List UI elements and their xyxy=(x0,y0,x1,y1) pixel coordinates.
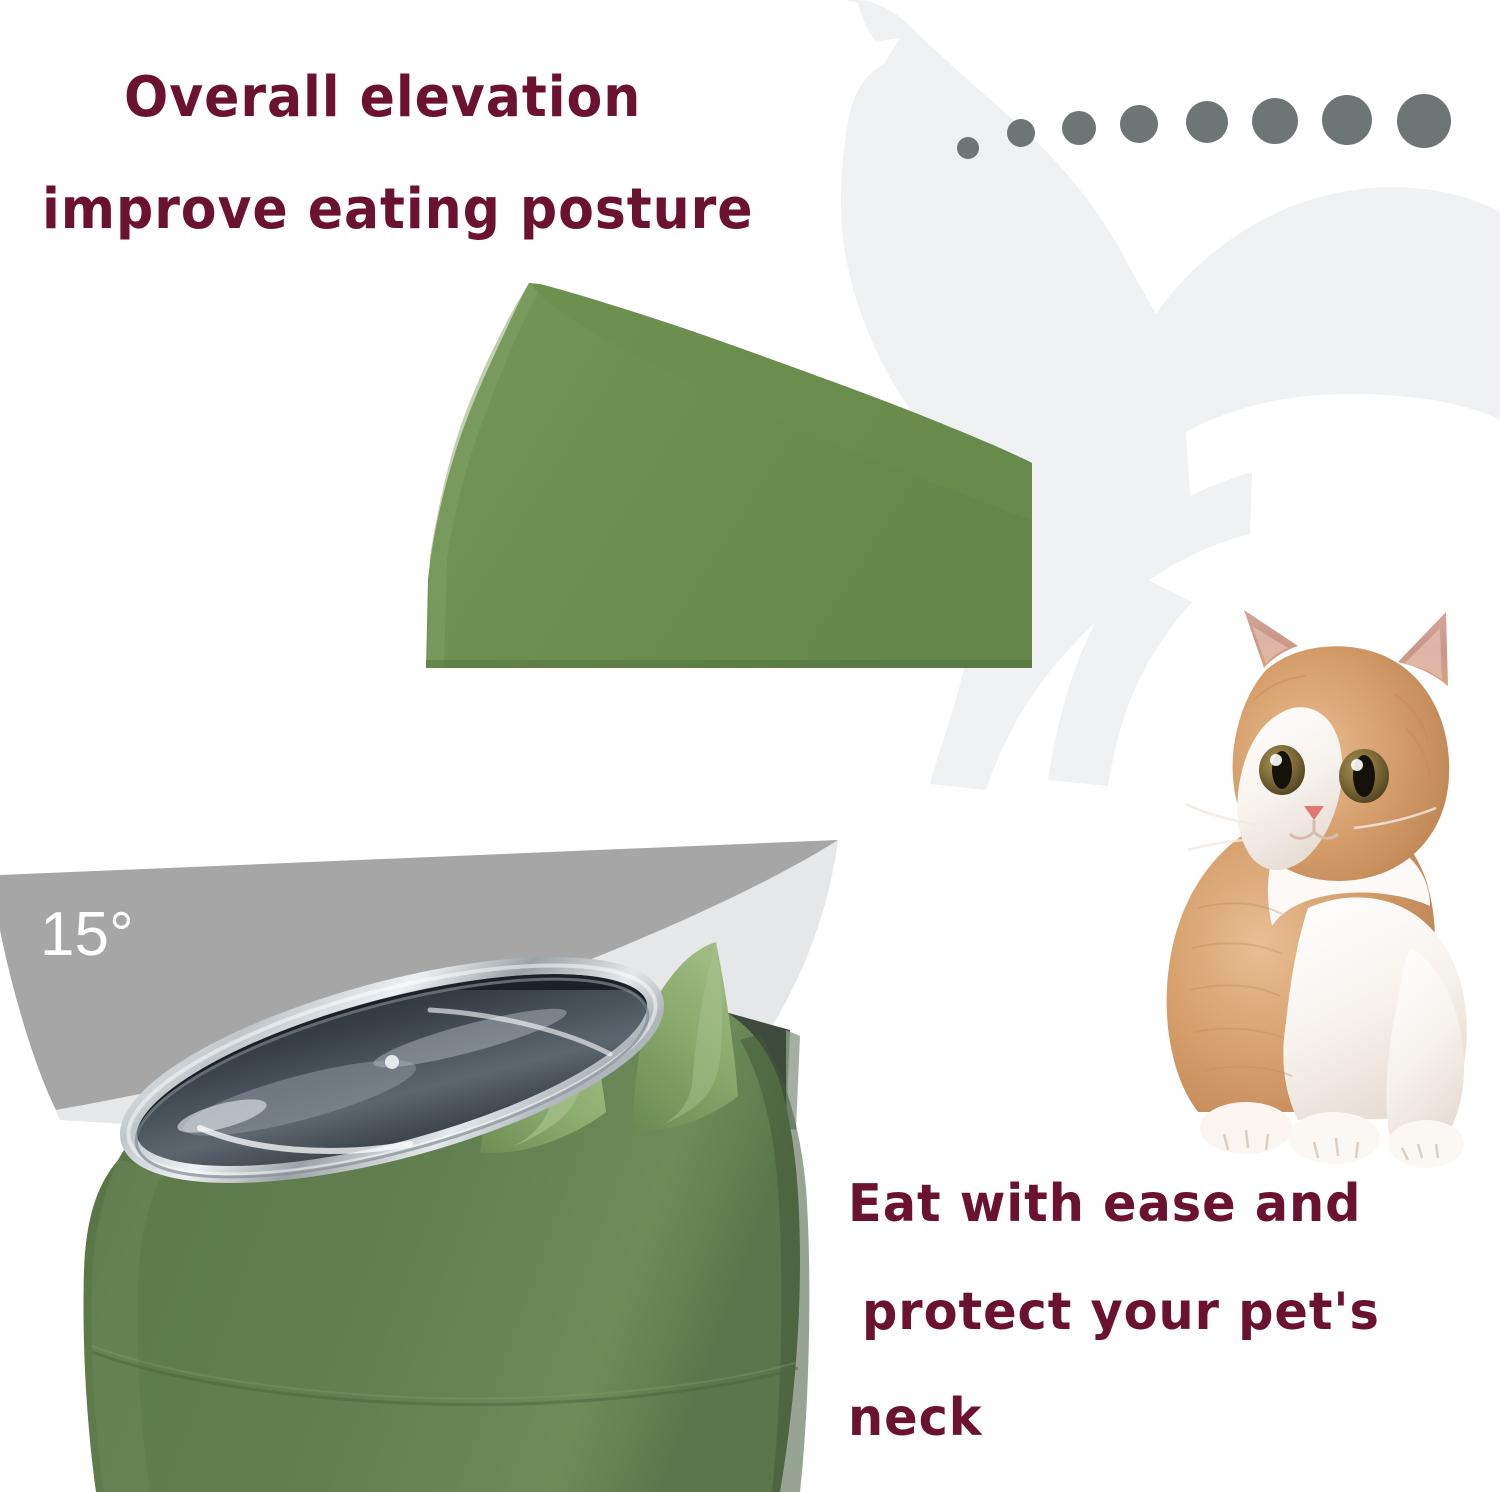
spine-dot xyxy=(957,137,979,159)
cat-ear-right xyxy=(632,942,738,1131)
cat-ear-left xyxy=(480,962,606,1153)
headline-line-1: Overall elevation xyxy=(124,70,641,126)
bowl-side-profile xyxy=(426,283,1032,668)
spine-dot xyxy=(1397,94,1451,148)
tilt-angle-indicator: 15° xyxy=(0,840,838,1156)
spine-dot xyxy=(1120,105,1158,143)
spine-dot xyxy=(1062,111,1096,145)
tagline-line-3: neck xyxy=(848,1392,983,1444)
steel-bowl-rim xyxy=(109,922,676,1217)
angle-value-label: 15° xyxy=(40,900,134,969)
spine-dot xyxy=(1007,119,1035,147)
bowl-back-shadow xyxy=(700,1005,790,1128)
bowl-body xyxy=(84,1000,801,1492)
spine-dot xyxy=(1252,98,1298,144)
tagline-line-1: Eat with ease and xyxy=(848,1178,1361,1230)
kitten-photo xyxy=(1158,608,1500,1190)
headline-line-2: improve eating posture xyxy=(42,182,753,238)
marketing-image-canvas: 15° xyxy=(0,0,1500,1492)
tagline-line-2: protect your pet's xyxy=(862,1286,1380,1338)
spine-dot xyxy=(1186,101,1228,143)
spine-dot xyxy=(1322,95,1372,145)
elevated-cat-bowl xyxy=(84,922,810,1492)
spine-dots-group xyxy=(957,94,1451,159)
steel-bowl-interior xyxy=(113,932,670,1218)
